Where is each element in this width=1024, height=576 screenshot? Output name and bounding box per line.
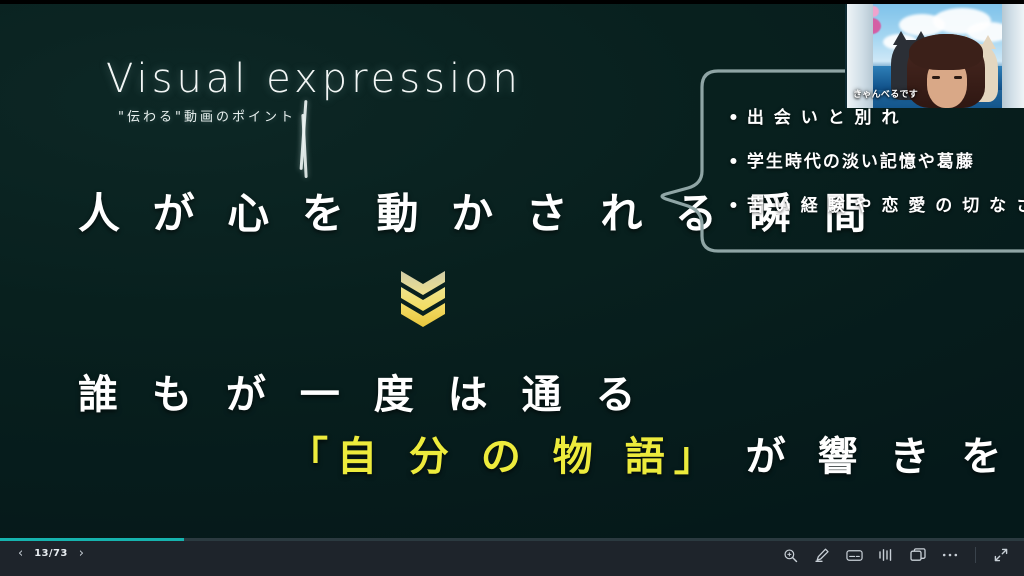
- list-item-label: 出 会 い と 別 れ: [747, 108, 901, 128]
- window-icon[interactable]: [909, 546, 927, 564]
- slide-canvas: Visual expression "伝わる"動画のポイント 人 が 心 を 動…: [0, 4, 1024, 538]
- page-indicator: 13/73: [34, 548, 67, 559]
- bullet-icon: •: [728, 108, 741, 128]
- window-frame-right: [1002, 4, 1024, 108]
- caption-icon[interactable]: [845, 546, 863, 564]
- webcam-overlay[interactable]: きゃんべるです: [845, 4, 1024, 108]
- conclusion-line-1: 誰 も が 一 度 は 通 る: [78, 362, 645, 420]
- zoom-icon[interactable]: [781, 546, 799, 564]
- presenter-hair-fringe: [909, 34, 983, 70]
- toolbar-actions: [781, 546, 1010, 564]
- progress-fill: [0, 538, 184, 541]
- list-item: •出 会 い と 別 れ: [728, 110, 1024, 127]
- prev-slide-button[interactable]: ‹: [18, 547, 23, 560]
- pen-icon[interactable]: [813, 546, 831, 564]
- fullscreen-icon[interactable]: [992, 546, 1010, 564]
- conclusion-rest: が 響 き を 生 む: [723, 433, 1024, 480]
- next-slide-button[interactable]: ›: [79, 547, 84, 560]
- list-item: •学生時代の淡い記憶や葛藤: [728, 154, 1024, 171]
- more-icon[interactable]: [941, 546, 959, 564]
- conclusion-line-2: 「自 分 の 物 語」 が 響 き を 生 む: [288, 424, 1024, 482]
- eye-right: [954, 76, 962, 79]
- page-title: Visual expression: [106, 56, 522, 102]
- player-toolbar: ‹ 13/73 ›: [0, 538, 1024, 576]
- list-item-label: 学生時代の淡い記憶や葛藤: [747, 152, 975, 172]
- list-item: •苦 い 経 験 や 恋 愛 の 切 な さ: [728, 198, 1024, 215]
- triple-chevron-down-icon: [399, 270, 447, 328]
- bullet-icon: •: [728, 196, 741, 216]
- list-item-label: 苦 い 経 験 や 恋 愛 の 切 な さ: [747, 196, 1024, 216]
- conclusion-highlight: 「自 分 の 物 語」: [288, 433, 723, 480]
- page-subtitle: "伝わる"動画のポイント: [118, 106, 522, 125]
- audio-icon[interactable]: [877, 546, 895, 564]
- eye-left: [932, 76, 940, 79]
- toolbar-divider: [975, 547, 976, 563]
- progress-track[interactable]: [0, 538, 1024, 541]
- presenter-name-label: きゃんべるです: [853, 87, 918, 100]
- slide-navigation: ‹ 13/73 ›: [18, 547, 84, 560]
- bullet-icon: •: [728, 152, 741, 172]
- callout-list: •出 会 い と 別 れ •学生時代の淡い記憶や葛藤 •苦 い 経 験 や 恋 …: [728, 110, 1024, 242]
- slide-title-block: Visual expression "伝わる"動画のポイント: [106, 56, 522, 125]
- presentation-viewer: Visual expression "伝わる"動画のポイント 人 が 心 を 動…: [0, 0, 1024, 576]
